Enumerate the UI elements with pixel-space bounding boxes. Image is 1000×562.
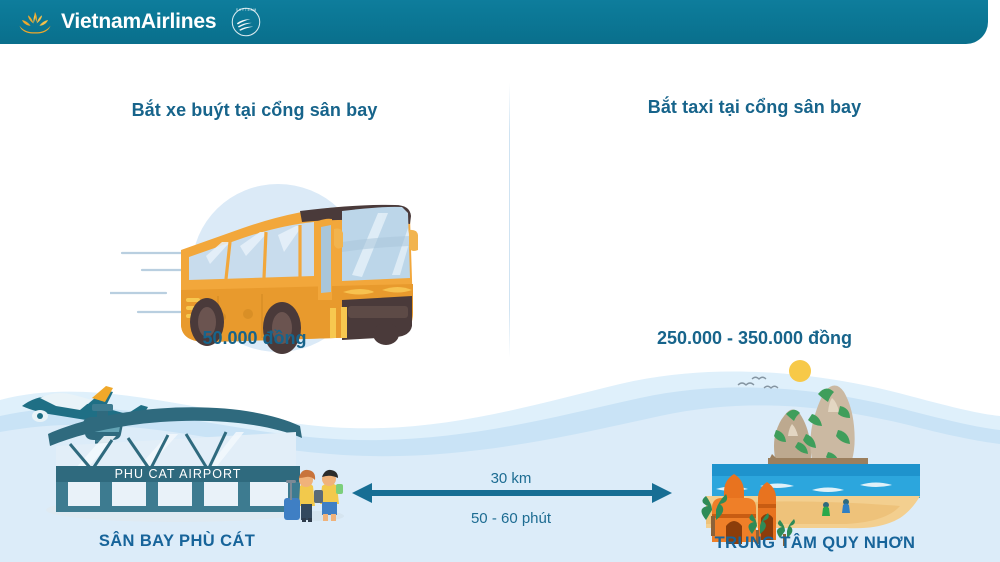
option-panel-bus: Bắt xe buýt tại cổng sân bay xyxy=(0,60,509,360)
destination-label: TRUNG TÂM QUY NHƠN xyxy=(665,534,965,553)
brand-header: VietnamAirlines S K Y T E A M xyxy=(0,0,988,44)
brand-name: VietnamAirlines xyxy=(61,10,216,34)
svg-text:S K Y T E A M: S K Y T E A M xyxy=(236,8,257,12)
option-title-taxi: Bắt taxi tại cổng sân bay xyxy=(509,97,1000,118)
option-price-taxi: 250.000 - 350.000 đồng xyxy=(509,328,1000,349)
brand-logo: VietnamAirlines S K Y T E A M xyxy=(18,5,263,39)
skyteam-icon: S K Y T E A M xyxy=(229,5,263,39)
lotus-icon xyxy=(18,9,52,35)
origin-label: SÂN BAY PHÙ CÁT xyxy=(27,532,327,551)
option-title-bus: Bắt xe buýt tại cổng sân bay xyxy=(0,100,509,121)
infographic-canvas: VietnamAirlines S K Y T E A M Bắt xe buý… xyxy=(0,0,1000,562)
option-price-bus: 50.000 đồng xyxy=(0,328,509,349)
option-panel-taxi: Bắt taxi tại cổng sân bay xyxy=(509,60,1000,360)
duration-text: 50 - 60 phút xyxy=(411,510,611,527)
distance-text: 30 km xyxy=(411,470,611,487)
